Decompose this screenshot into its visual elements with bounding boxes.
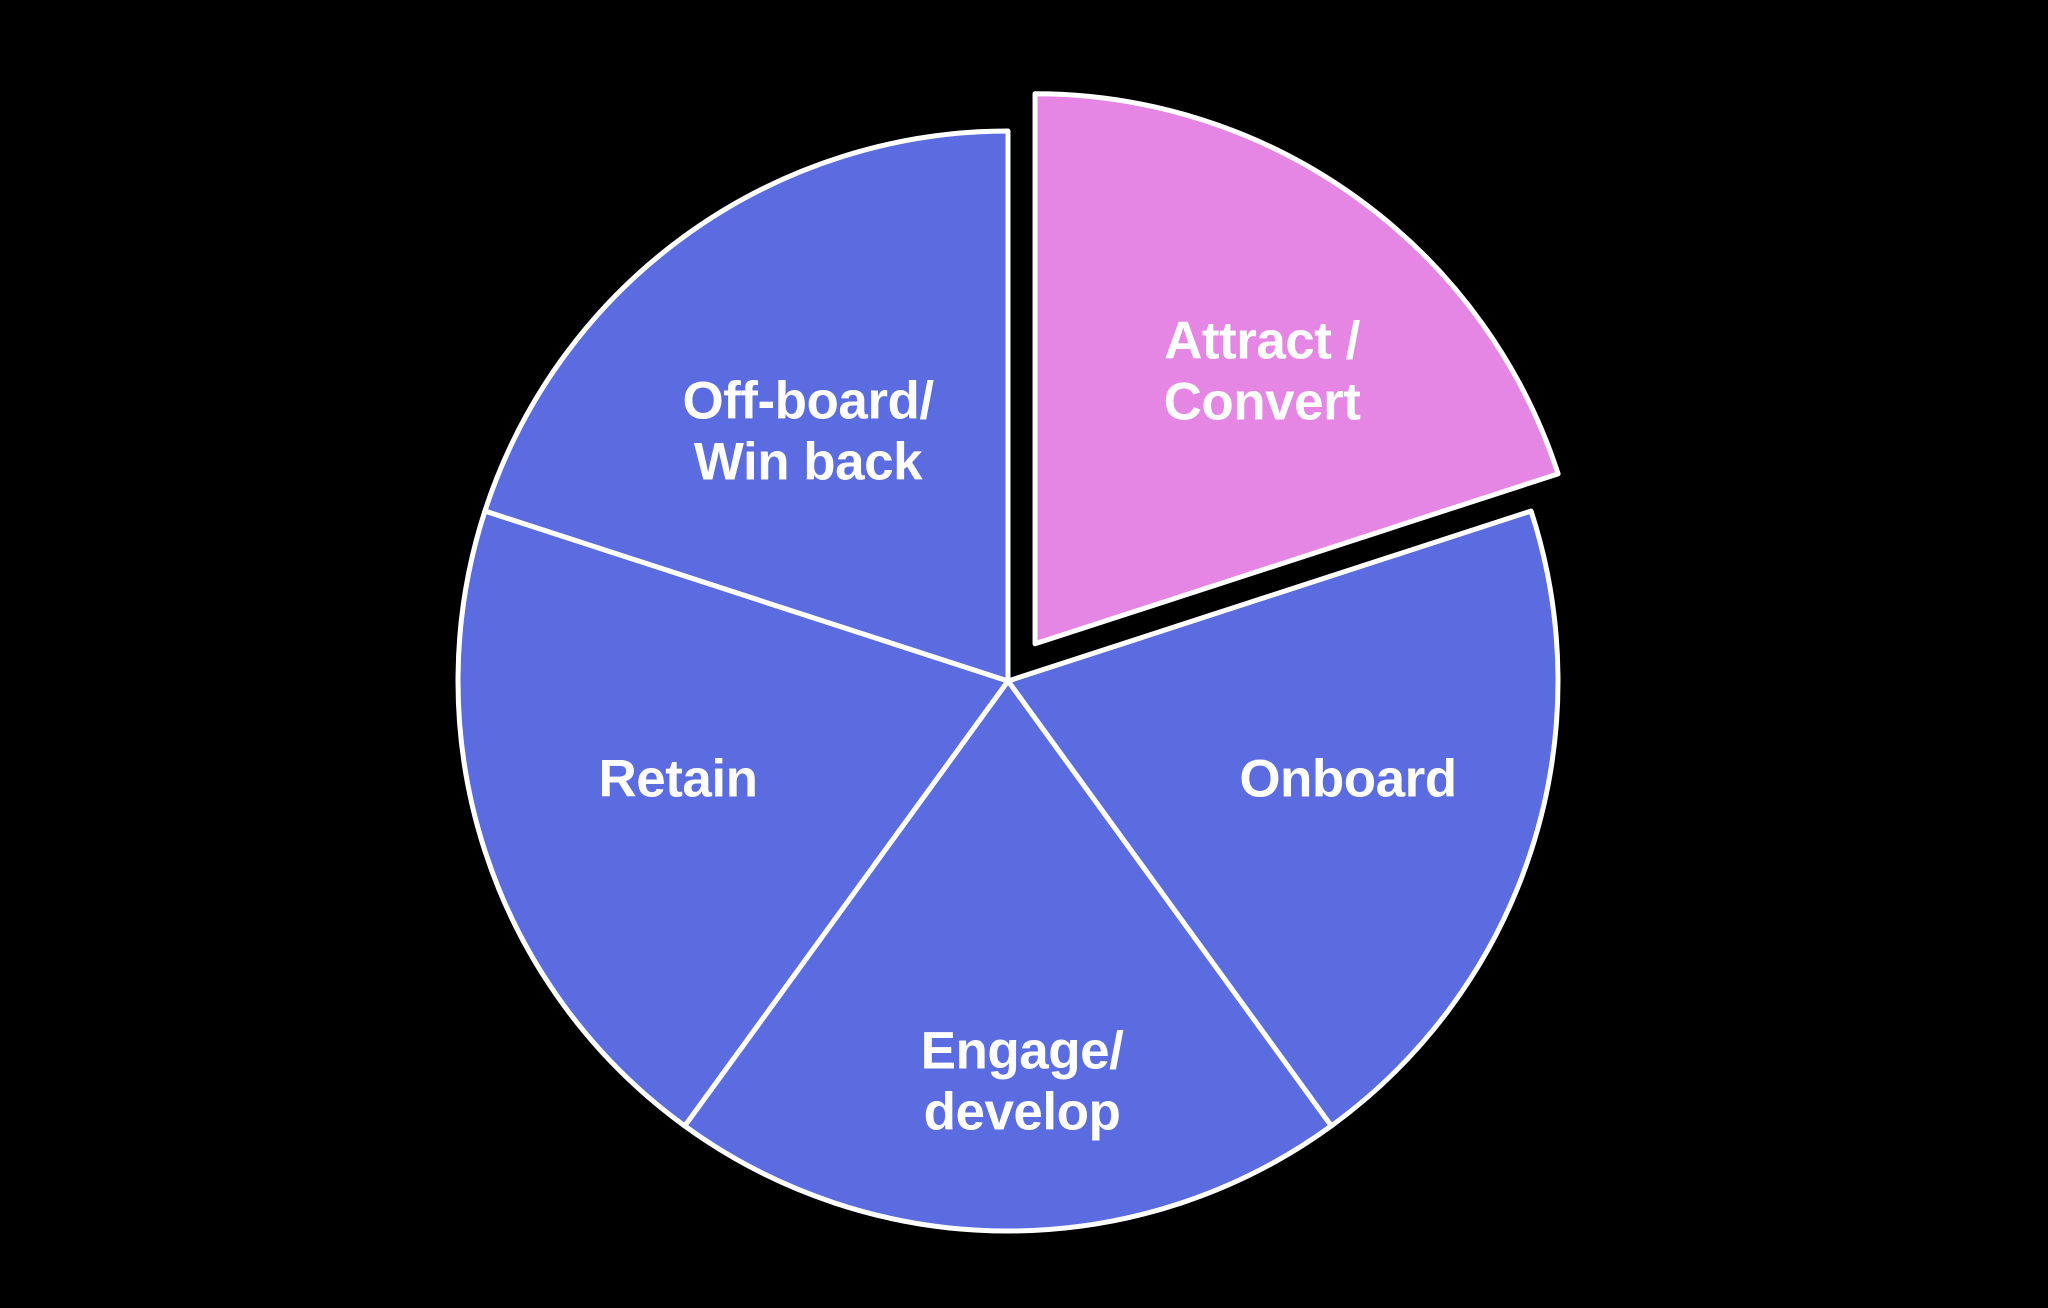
pie-chart-svg xyxy=(0,0,2048,1308)
pie-chart: Attract / Convert Onboard Engage/ develo… xyxy=(0,0,2048,1308)
pie-slice-group xyxy=(458,94,1558,1231)
